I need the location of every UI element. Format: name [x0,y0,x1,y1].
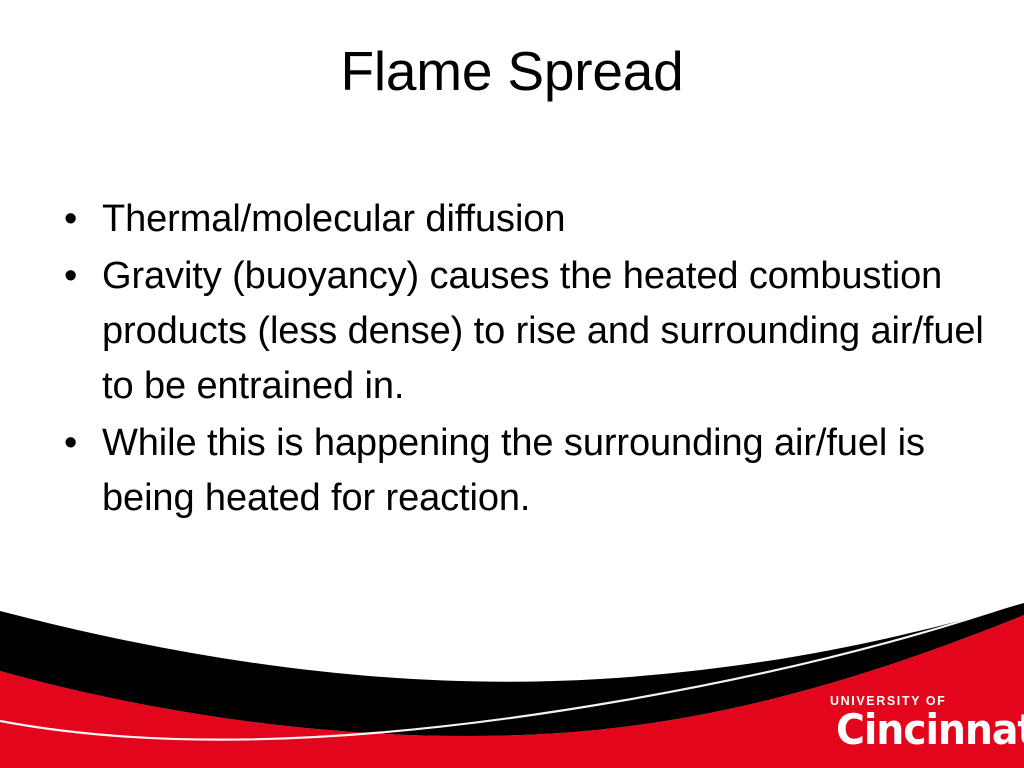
slide: Flame Spread • Thermal/molecular diffusi… [0,0,1024,768]
list-item: • Gravity (buoyancy) causes the heated c… [58,249,988,414]
cincinnati-wordmark: Cincinnati [836,708,1024,752]
bullet-text: Thermal/molecular diffusion [102,192,988,247]
footer-black-swoosh [0,603,1024,736]
footer-white-accent-line [0,601,1024,740]
list-item: • Thermal/molecular diffusion [58,192,988,247]
bullet-marker-icon: • [64,192,88,247]
uc-logo-top-row: UNIVERSITY OF [822,690,1012,714]
bullet-marker-icon: • [64,416,88,471]
bullet-text: Gravity (buoyancy) causes the heated com… [102,249,988,414]
footer-red-shape [0,615,1024,768]
page-title: Flame Spread [0,42,1024,101]
list-item: • While this is happening the surroundin… [58,416,988,526]
uc-monogram-icon [934,676,1006,730]
university-of-label: UNIVERSITY OF [830,694,946,708]
footer-swoosh-graphic: UNIVERSITY OF Cincinnati [0,593,1024,768]
bullet-text: While this is happening the surrounding … [102,416,988,526]
bullet-marker-icon: • [64,249,88,304]
bullet-list: • Thermal/molecular diffusion • Gravity … [58,192,988,528]
uc-logo: UNIVERSITY OF Cincinnati [822,664,1012,756]
